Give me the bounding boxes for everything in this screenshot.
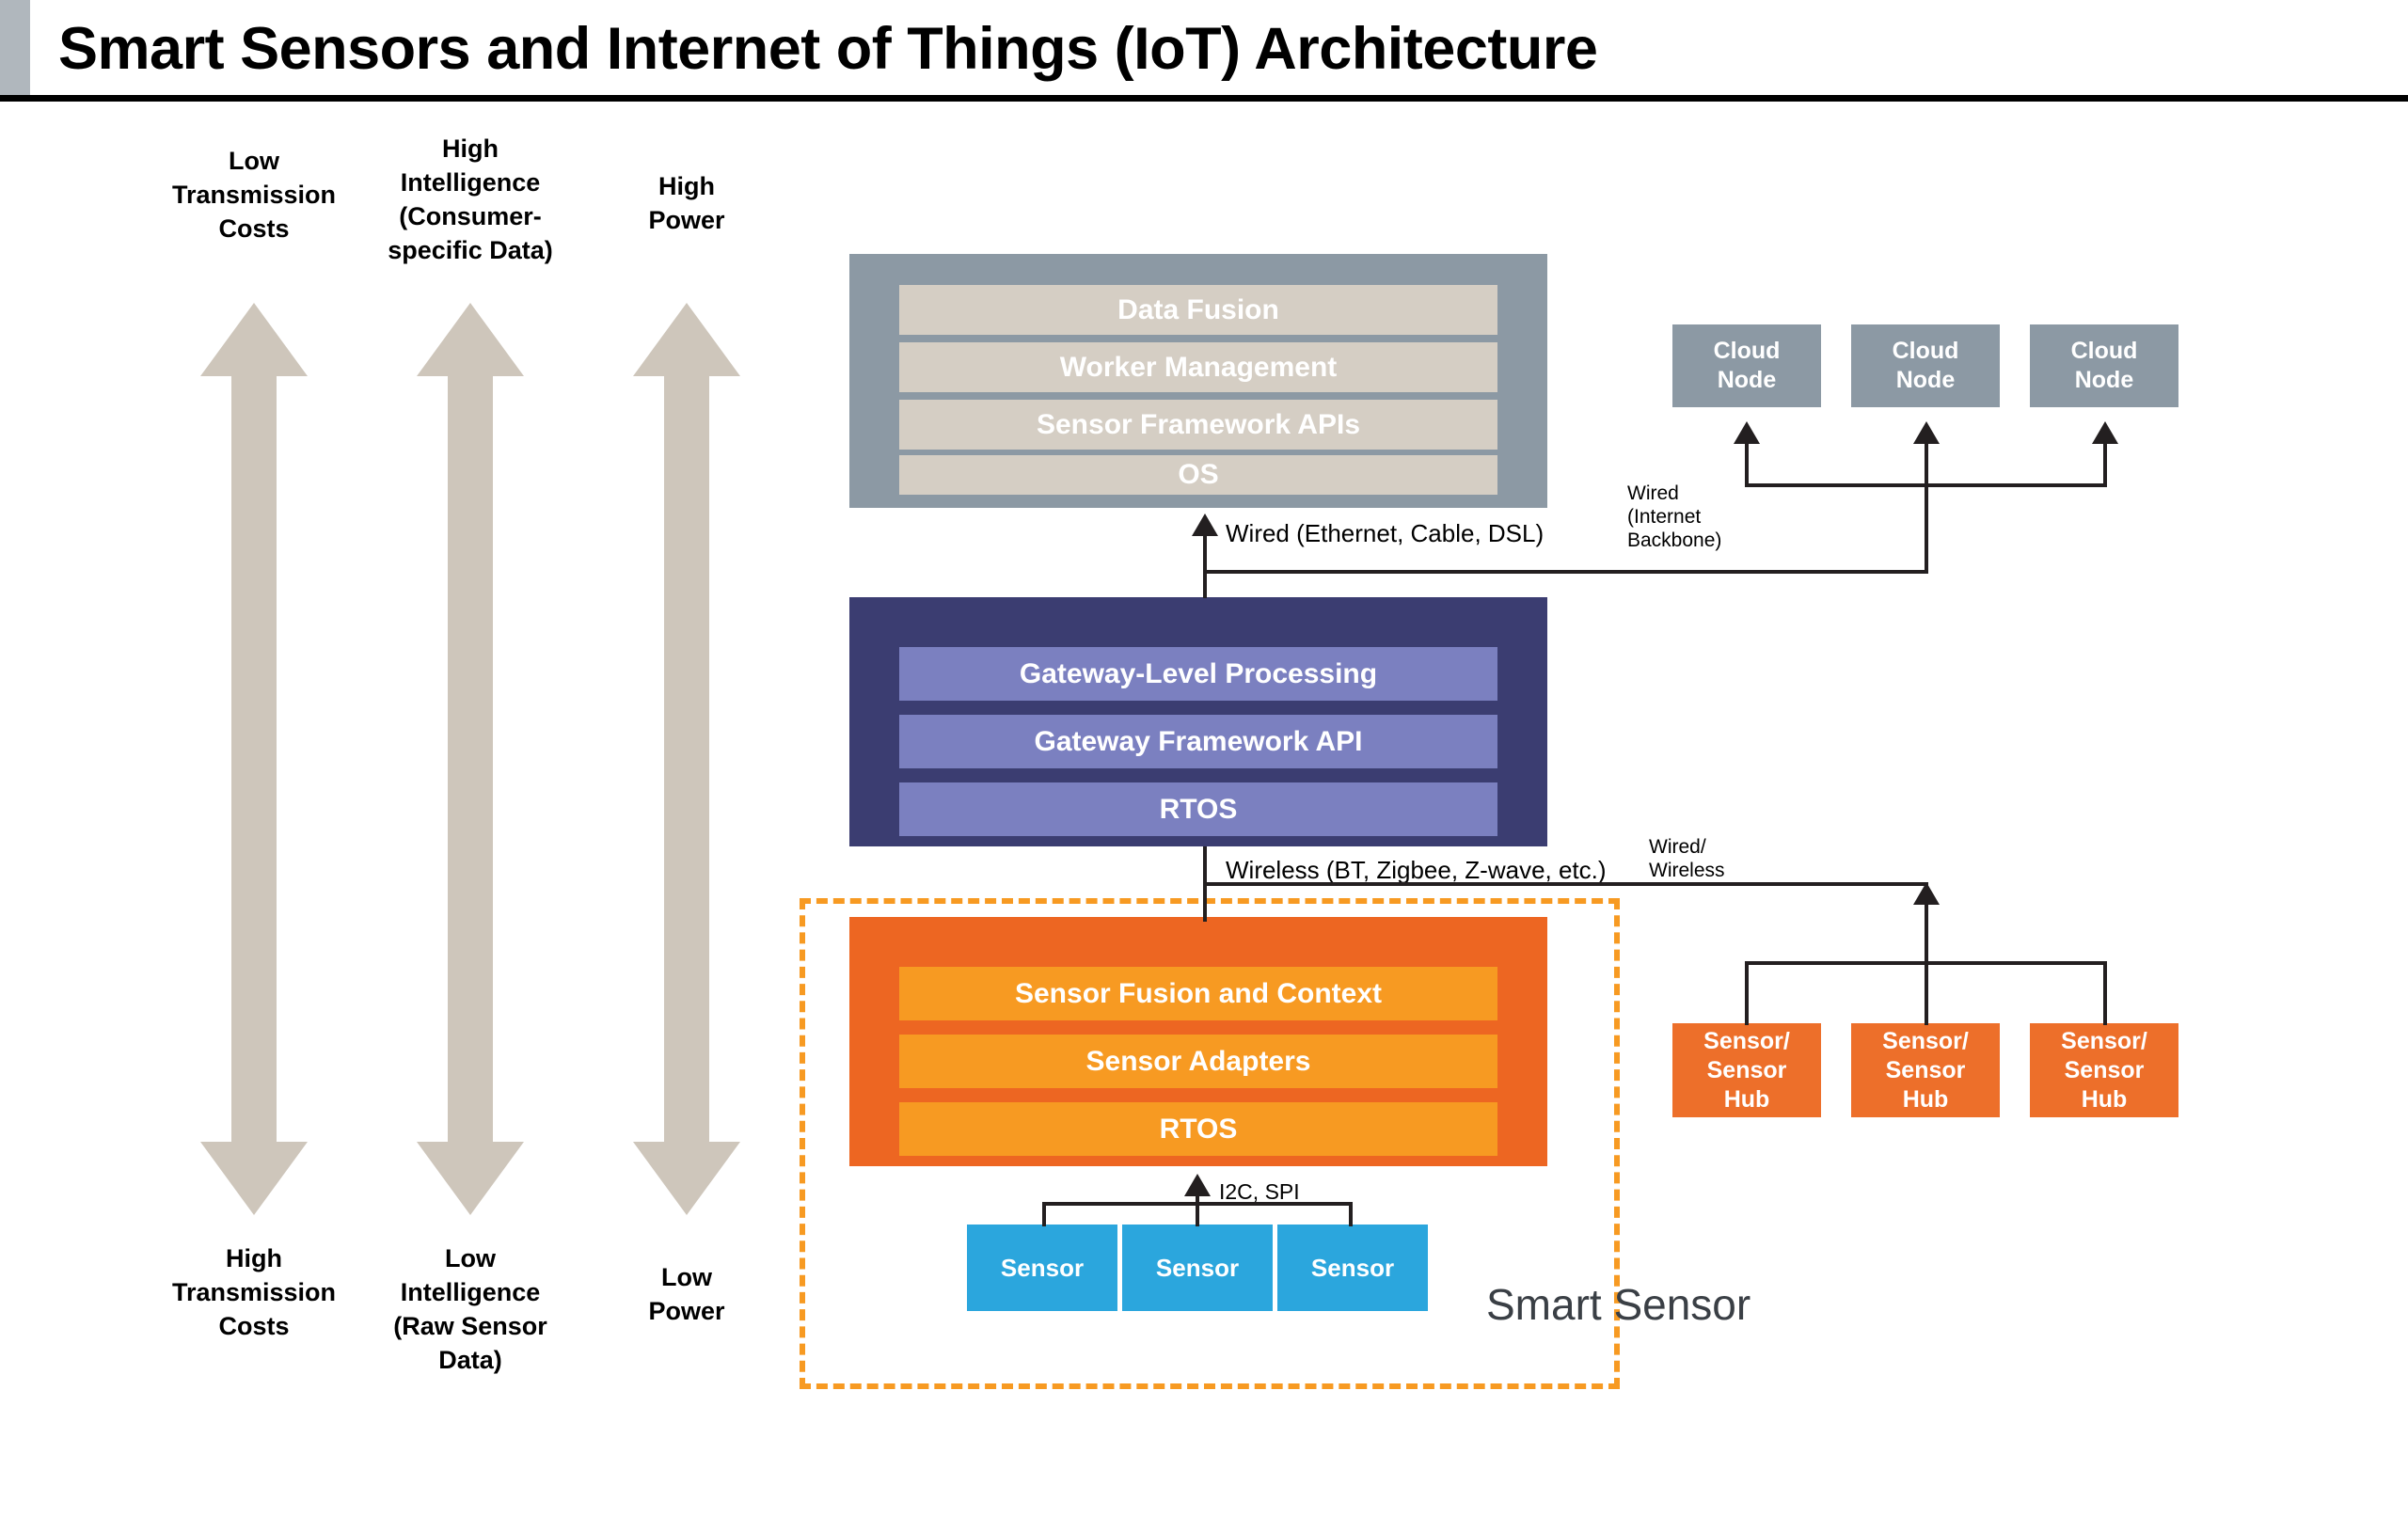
sensor-hub-3[interactable]: Sensor/ Sensor Hub — [2030, 1023, 2178, 1117]
gateway-downlink-label: Wireless (BT, Zigbee, Z-wave, etc.) — [1226, 856, 1607, 885]
sensor-hub-line1: Sensor/ — [1703, 1027, 1790, 1056]
arrow-shaft — [664, 375, 709, 1143]
cloud-backbone-feed-line — [1205, 570, 1928, 574]
smart-sensor-layer-fusion-context[interactable]: Sensor Fusion and Context — [899, 967, 1497, 1020]
axis-arrow-power — [633, 303, 740, 1215]
cloud-stack-layer-worker-management[interactable]: Worker Management — [899, 342, 1497, 392]
sensor-hub-line2: Sensor — [2061, 1056, 2147, 1085]
cloud-node-3-arrowhead-icon — [2092, 421, 2118, 444]
internet-backbone-label: Wired (Internet Backbone) — [1627, 482, 1721, 552]
arrow-shaft — [448, 375, 493, 1143]
cloud-node-3[interactable]: Cloud Node — [2030, 324, 2178, 407]
sensor-bus-drop-3 — [1349, 1202, 1353, 1226]
cloud-node-line2: Node — [2071, 366, 2138, 395]
sensor-hub-line1: Sensor/ — [2061, 1027, 2147, 1056]
cloud-node-2-arrowhead-icon — [1913, 421, 1940, 444]
cloud-stack-layer-data-fusion[interactable]: Data Fusion — [899, 285, 1497, 335]
smart-sensor-layer-rtos[interactable]: RTOS — [899, 1102, 1497, 1156]
sensor-bus-label: I2C, SPI — [1219, 1179, 1300, 1205]
cloud-backbone-riser-3 — [2103, 442, 2107, 487]
sensor-hub-drop-2 — [1925, 961, 1928, 1025]
axis-top-label-transmission-costs: Low Transmission Costs — [141, 144, 367, 245]
axis-arrow-intelligence — [417, 303, 524, 1215]
sensor-hub-line3: Hub — [2061, 1085, 2147, 1114]
sensor-bus-drop-1 — [1042, 1202, 1046, 1226]
gateway-stack-layer-rtos[interactable]: RTOS — [899, 782, 1497, 836]
arrow-head-down-icon — [633, 1142, 740, 1215]
cloud-stack-layer-sensor-framework-apis[interactable]: Sensor Framework APIs — [899, 400, 1497, 450]
sensor-hub-line2: Sensor — [1882, 1056, 1969, 1085]
sensor-hub-drop-3 — [2103, 961, 2107, 1025]
header-bar: Smart Sensors and Internet of Things (Io… — [0, 0, 2408, 98]
smart-sensor-layer-adapters[interactable]: Sensor Adapters — [899, 1035, 1497, 1088]
page-title: Smart Sensors and Internet of Things (Io… — [58, 11, 2128, 87]
arrow-head-up-icon — [417, 303, 524, 376]
sensor-box-3[interactable]: Sensor — [1277, 1225, 1428, 1311]
cloud-node-2[interactable]: Cloud Node — [1851, 324, 2000, 407]
arrow-head-down-icon — [417, 1142, 524, 1215]
cloud-backbone-riser-1 — [1745, 442, 1749, 487]
sensor-hub-line2: Sensor — [1703, 1056, 1790, 1085]
sensor-hub-2[interactable]: Sensor/ Sensor Hub — [1851, 1023, 2000, 1117]
header-accent-bar — [0, 0, 30, 95]
axis-bottom-label-transmission-costs: High Transmission Costs — [141, 1241, 367, 1343]
cloud-backbone-riser-2 — [1925, 442, 1928, 574]
sensor-box-1[interactable]: Sensor — [967, 1225, 1117, 1311]
cloud-node-line1: Cloud — [1714, 337, 1781, 366]
gateway-stack-layer-framework-api[interactable]: Gateway Framework API — [899, 715, 1497, 768]
sensor-hub-line3: Hub — [1703, 1085, 1790, 1114]
sensor-hub-uplink-feed-line — [1205, 882, 1928, 886]
hub-uplink-label: Wired/ Wireless — [1649, 835, 1725, 882]
cloud-node-line2: Node — [1893, 366, 1959, 395]
cloud-uplink-arrowhead-icon — [1192, 514, 1218, 536]
sensor-hub-line1: Sensor/ — [1882, 1027, 1969, 1056]
arrow-head-up-icon — [633, 303, 740, 376]
arrow-head-up-icon — [200, 303, 308, 376]
sensor-hub-1[interactable]: Sensor/ Sensor Hub — [1672, 1023, 1821, 1117]
cloud-uplink-line — [1203, 536, 1207, 598]
cloud-stack-layer-os[interactable]: OS — [899, 455, 1497, 495]
arrow-head-down-icon — [200, 1142, 308, 1215]
axis-arrow-transmission-costs — [200, 303, 308, 1215]
sensor-hub-drop-1 — [1745, 961, 1749, 1025]
cloud-uplink-label: Wired (Ethernet, Cable, DSL) — [1226, 519, 1544, 548]
cloud-node-line1: Cloud — [1893, 337, 1959, 366]
cloud-node-1[interactable]: Cloud Node — [1672, 324, 1821, 407]
axis-bottom-label-power: Low Power — [583, 1260, 790, 1328]
cloud-node-line1: Cloud — [2071, 337, 2138, 366]
axis-top-label-power: High Power — [583, 169, 790, 237]
axis-bottom-label-intelligence: Low Intelligence (Raw Sensor Data) — [357, 1241, 583, 1377]
axis-top-label-intelligence: High Intelligence (Consumer- specific Da… — [357, 132, 583, 267]
arrow-shaft — [231, 375, 277, 1143]
gateway-stack-layer-processing[interactable]: Gateway-Level Processing — [899, 647, 1497, 701]
cloud-node-1-arrowhead-icon — [1734, 421, 1760, 444]
sensor-box-2[interactable]: Sensor — [1122, 1225, 1273, 1311]
header-divider — [0, 95, 2408, 102]
smart-sensor-caption: Smart Sensor — [1486, 1279, 1751, 1330]
sensor-bus-arrowhead-icon — [1184, 1174, 1211, 1196]
sensor-hub-line3: Hub — [1882, 1085, 1969, 1114]
cloud-node-line2: Node — [1714, 366, 1781, 395]
sensor-hub-riser — [1925, 903, 1928, 965]
